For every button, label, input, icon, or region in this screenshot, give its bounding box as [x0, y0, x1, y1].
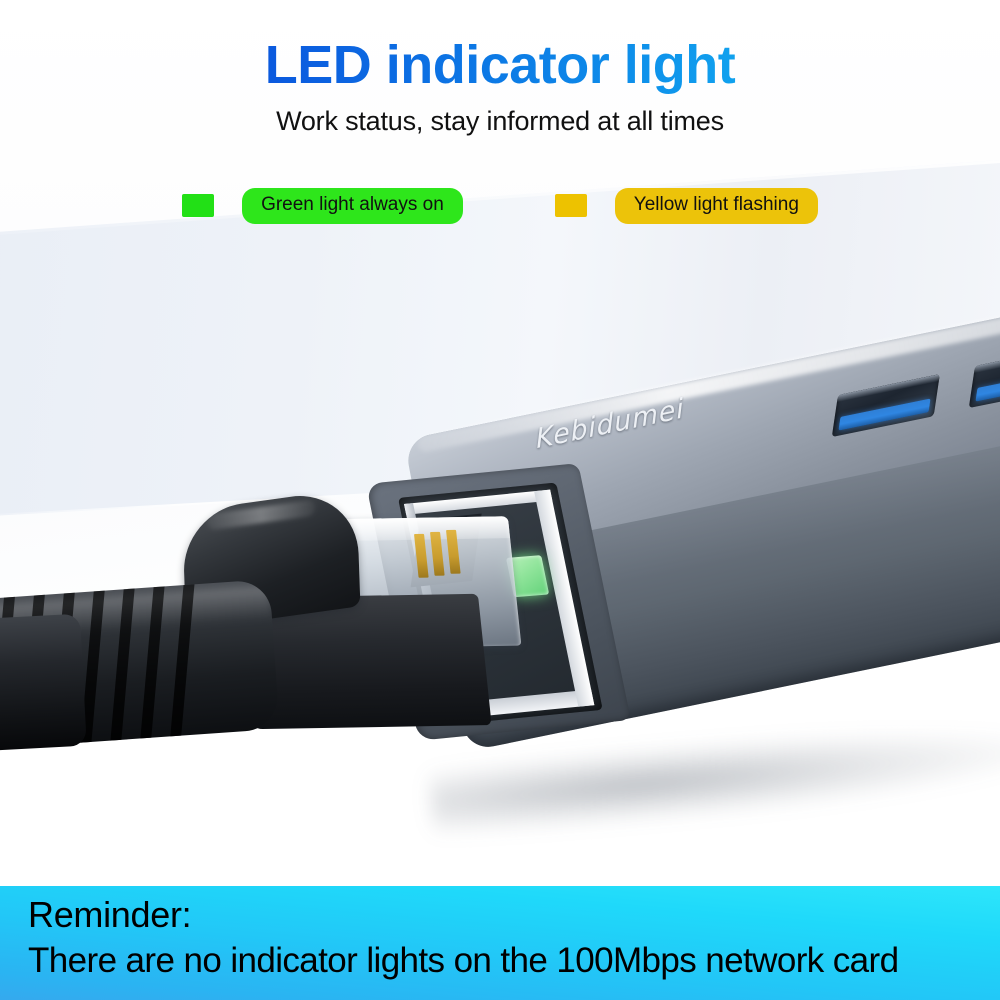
product-feature-banner: LED indicator light Work status, stay in…	[0, 0, 1000, 1000]
reminder-title: Reminder:	[28, 892, 1000, 937]
legend-pill-yellow: Yellow light flashing	[615, 188, 818, 224]
legend-item-green: Green light always on	[182, 188, 463, 224]
product-illustration: Kebidumei	[0, 0, 1000, 1000]
legend-pill-green: Green light always on	[242, 188, 463, 224]
legend-item-yellow: Yellow light flashing	[555, 188, 818, 224]
reminder-text: There are no indicator lights on the 100…	[28, 937, 1000, 983]
yellow-swatch-icon	[555, 194, 587, 217]
legend-row: Green light always on Yellow light flash…	[0, 188, 1000, 224]
header: LED indicator light Work status, stay in…	[0, 0, 1000, 137]
reminder-banner: Reminder: There are no indicator lights …	[0, 886, 1000, 1000]
latch-highlight	[207, 499, 316, 530]
usb-port-2-blue-insert	[975, 369, 1000, 401]
green-swatch-icon	[182, 194, 214, 217]
page-subtitle: Work status, stay informed at all times	[0, 94, 1000, 137]
page-title: LED indicator light	[0, 0, 1000, 94]
ethernet-cable	[0, 614, 87, 752]
